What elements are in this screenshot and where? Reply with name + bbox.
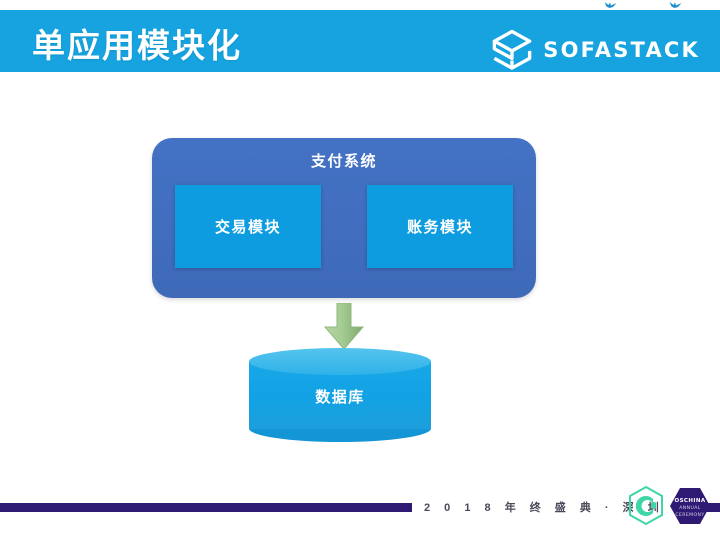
module-box-transaction: 交易模块 — [175, 185, 321, 268]
svg-text:ANNUAL: ANNUAL — [679, 505, 701, 511]
svg-text:OSCHINA: OSCHINA — [675, 498, 706, 504]
brand-logo: SOFASTACK — [491, 29, 700, 71]
system-box-label: 支付系统 — [152, 150, 536, 171]
bird-icon — [604, 1, 617, 10]
database-label: 数据库 — [249, 386, 431, 407]
oschina-ceremony-logo-icon: OSCHINA ANNUAL CEREMONY — [624, 485, 716, 531]
header-bar: 单应用模块化 SOFASTACK — [0, 10, 720, 72]
system-box: 支付系统 交易模块 账务模块 — [152, 138, 536, 298]
footer-rule-left — [0, 503, 412, 512]
module-label: 账务模块 — [407, 216, 473, 237]
sofastack-cube-logo-icon — [491, 29, 533, 71]
module-label: 交易模块 — [215, 216, 281, 237]
page-title: 单应用模块化 — [32, 26, 242, 66]
brand-name: SOFASTACK — [543, 38, 700, 62]
svg-text:CEREMONY: CEREMONY — [675, 512, 704, 518]
database-cylinder: 数据库 — [249, 348, 431, 442]
cylinder-top — [249, 348, 431, 375]
bird-icon — [669, 1, 682, 10]
slide-canvas: 单应用模块化 SOFASTACK 支付系统 交易模块 账务模块 — [0, 0, 720, 540]
module-box-accounting: 账务模块 — [367, 185, 513, 268]
down-arrow-icon — [320, 303, 368, 351]
